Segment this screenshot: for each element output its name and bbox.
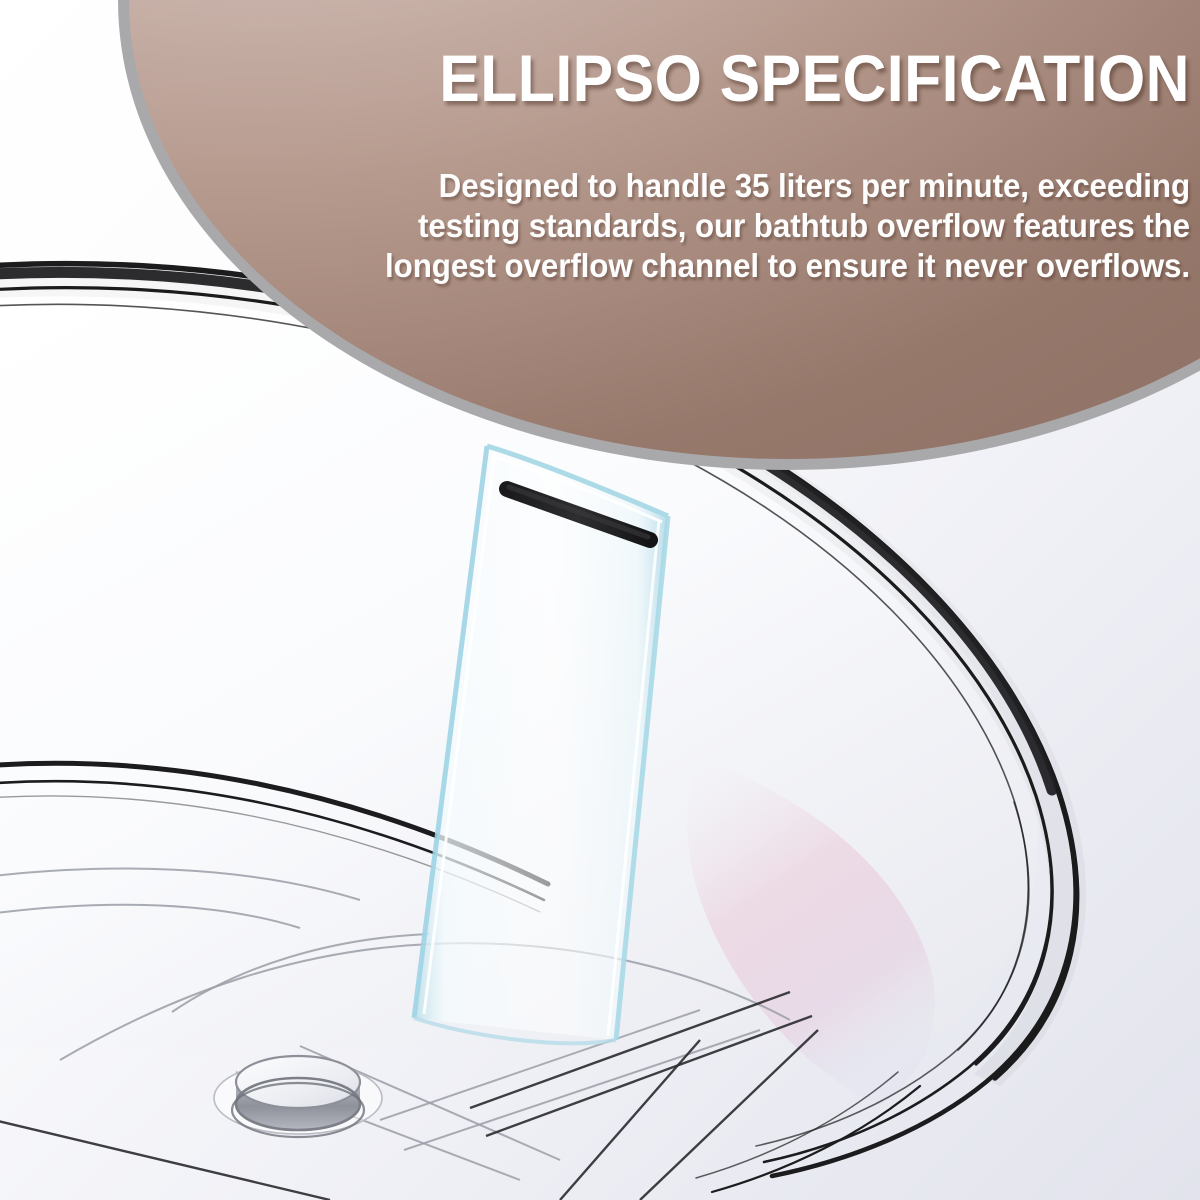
banner-description: Designed to handle 35 liters per minute,… xyxy=(364,166,1191,286)
banner-title: ELLIPSO SPECIFICATION xyxy=(371,44,1190,112)
product-spec-banner-image: ELLIPSO SPECIFICATION Designed to handle… xyxy=(0,0,1200,1200)
banner-content: ELLIPSO SPECIFICATION Designed to handle… xyxy=(0,0,1200,520)
